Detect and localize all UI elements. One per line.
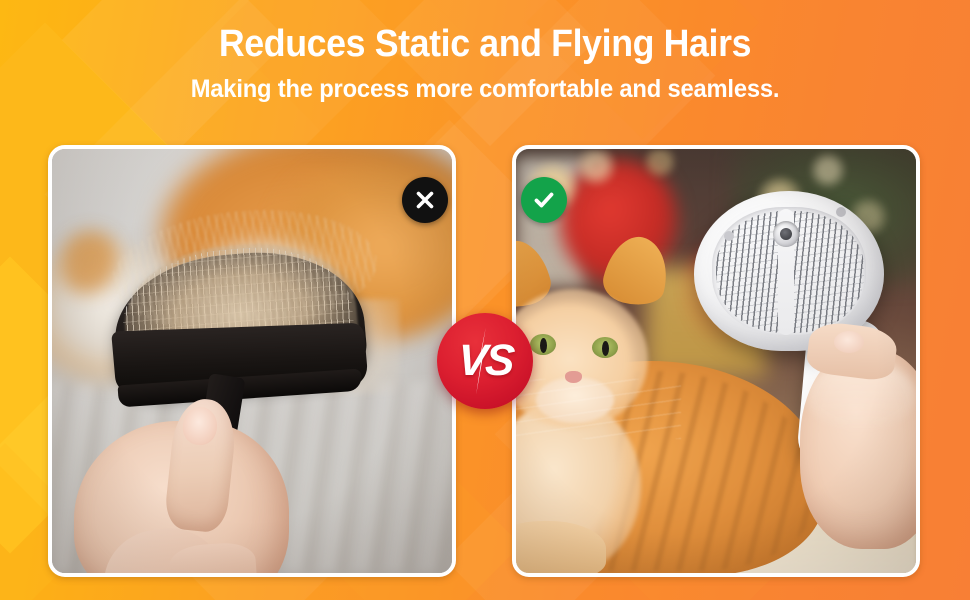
after-photo xyxy=(516,149,916,573)
vs-label: VS xyxy=(456,339,514,383)
page-subtitle: Making the process more comfortable and … xyxy=(24,66,946,104)
photo-vignette xyxy=(52,149,452,573)
before-photo xyxy=(52,149,452,573)
page-title: Reduces Static and Flying Hairs xyxy=(29,0,941,66)
photo-vignette xyxy=(516,149,916,573)
comparison-panel-before xyxy=(48,145,456,577)
cross-icon xyxy=(402,177,448,223)
vs-badge: VS xyxy=(437,313,533,409)
banner-header: Reduces Static and Flying Hairs Making t… xyxy=(0,0,970,104)
check-icon xyxy=(521,177,567,223)
comparison-panel-after xyxy=(512,145,920,577)
promo-banner: Reduces Static and Flying Hairs Making t… xyxy=(0,0,970,600)
